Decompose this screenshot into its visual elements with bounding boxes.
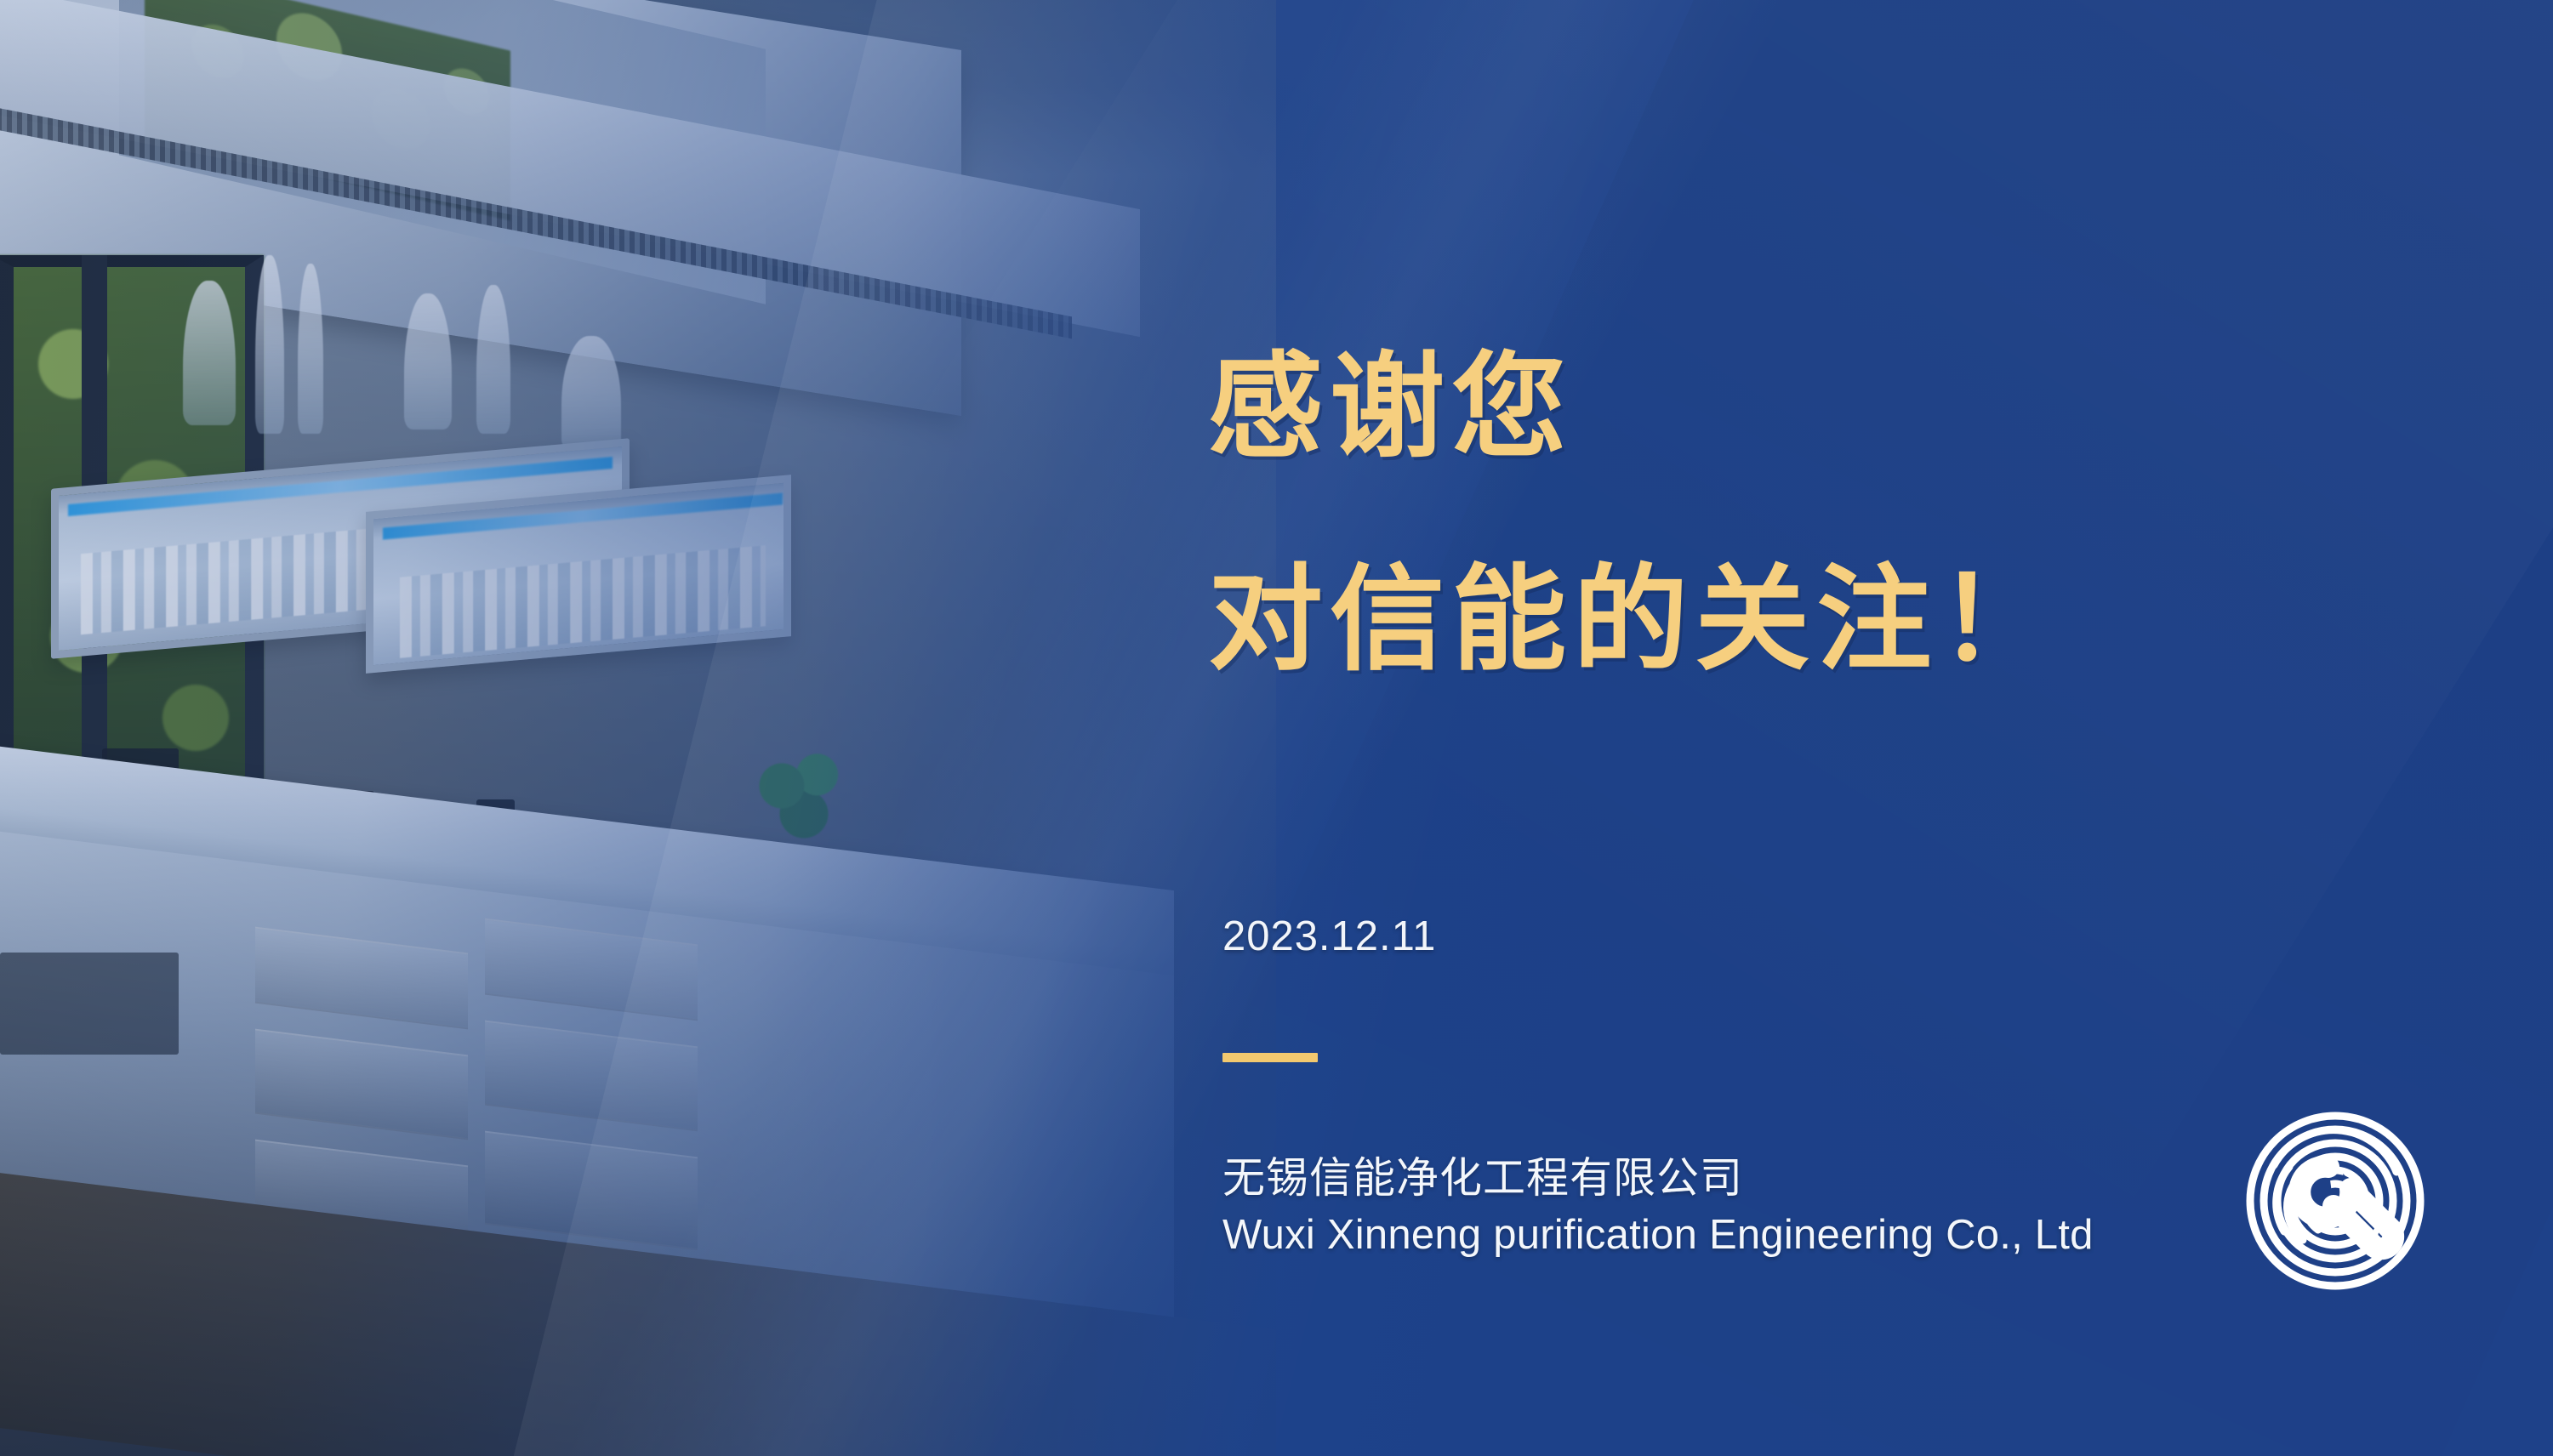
thank-you-slide: 感谢您 对信能的关注！ 2023.12.11 无锡信能净化工程有限公司 Wuxi…: [0, 0, 2553, 1456]
company-name-english: Wuxi Xinneng purification Engineering Co…: [1222, 1211, 2094, 1259]
headline-line-1: 感谢您: [1208, 313, 1573, 480]
slide-content: 感谢您 对信能的关注！ 2023.12.11 无锡信能净化工程有限公司 Wuxi…: [0, 0, 2553, 1456]
headline-line-2: 对信能的关注！: [1208, 526, 2060, 692]
slide-date: 2023.12.11: [1222, 913, 1436, 960]
company-name-chinese: 无锡信能净化工程有限公司: [1222, 1144, 1743, 1205]
gold-divider: [1222, 1053, 1318, 1062]
fingerprint-wrench-logo-icon: [2240, 1106, 2430, 1296]
